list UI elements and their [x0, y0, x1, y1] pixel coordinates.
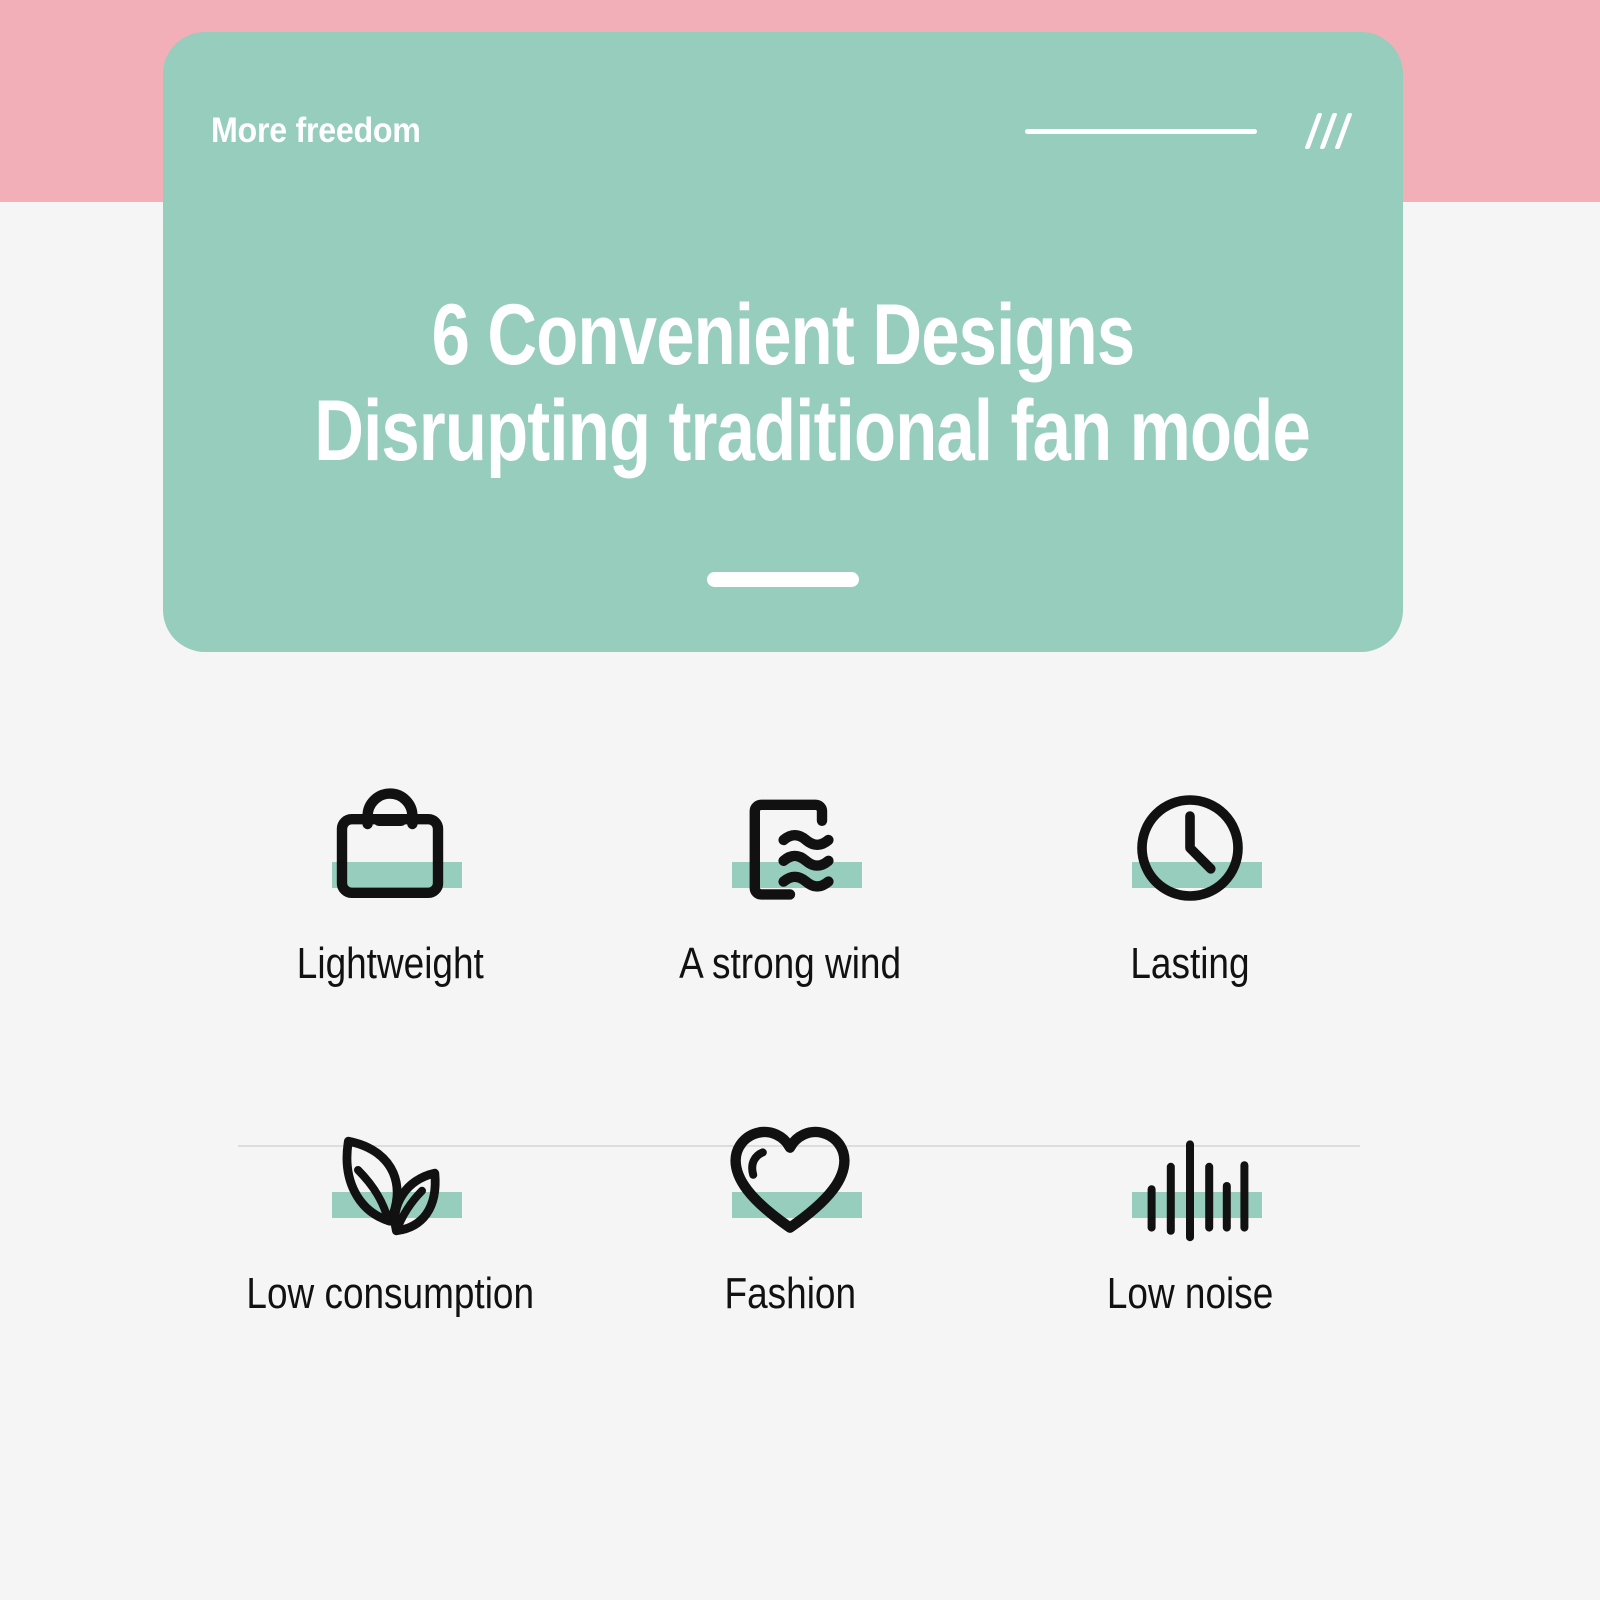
- promo-page: More freedom 6 Convenient Designs Disrup…: [0, 0, 1600, 1600]
- icon-wrap: [710, 1090, 870, 1250]
- feature-item-low-consumption: Low consumption: [190, 1090, 590, 1420]
- hero-title-line-2: Disrupting traditional fan mode: [314, 383, 1252, 479]
- fan-wind-icon: [710, 760, 870, 920]
- hero-topbar-decorations: [1025, 113, 1355, 149]
- feature-item-lasting: Lasting: [990, 760, 1390, 1090]
- shopping-bag-icon: [310, 760, 470, 920]
- icon-wrap: [1110, 1090, 1270, 1250]
- icon-wrap: [1110, 760, 1270, 920]
- icon-wrap: [310, 760, 470, 920]
- horizontal-rule-icon: [1025, 129, 1257, 134]
- hero-eyebrow: More freedom: [211, 111, 421, 151]
- feature-item-fashion: Fashion: [590, 1090, 990, 1420]
- icon-wrap: [310, 1090, 470, 1250]
- feature-item-low-noise: Low noise: [990, 1090, 1390, 1420]
- feature-label: Fashion: [724, 1268, 855, 1320]
- hero-card: More freedom 6 Convenient Designs Disrup…: [163, 32, 1403, 652]
- feature-row: Lightweight A strong wind: [0, 760, 1600, 1090]
- feature-item-strong-wind: A strong wind: [590, 760, 990, 1090]
- hero-underline: [707, 572, 859, 587]
- feature-label: Low consumption: [246, 1268, 534, 1320]
- heart-icon: [710, 1090, 870, 1250]
- feature-label: Low noise: [1107, 1268, 1273, 1320]
- feature-label: Lasting: [1130, 938, 1249, 990]
- hero-title-line-1: 6 Convenient Designs: [314, 287, 1252, 383]
- leaves-icon: [310, 1090, 470, 1250]
- features-section: Lightweight A strong wind: [0, 760, 1600, 1420]
- feature-row: Low consumption Fashion: [0, 1090, 1600, 1420]
- icon-wrap: [710, 760, 870, 920]
- hero-topbar: More freedom: [211, 106, 1355, 156]
- sound-bars-icon: [1110, 1090, 1270, 1250]
- three-slashes-icon: [1309, 113, 1355, 149]
- feature-label: Lightweight: [296, 938, 483, 990]
- feature-item-lightweight: Lightweight: [190, 760, 590, 1090]
- hero-title: 6 Convenient Designs Disrupting traditio…: [197, 287, 1369, 479]
- clock-icon: [1110, 760, 1270, 920]
- feature-label: A strong wind: [679, 938, 901, 990]
